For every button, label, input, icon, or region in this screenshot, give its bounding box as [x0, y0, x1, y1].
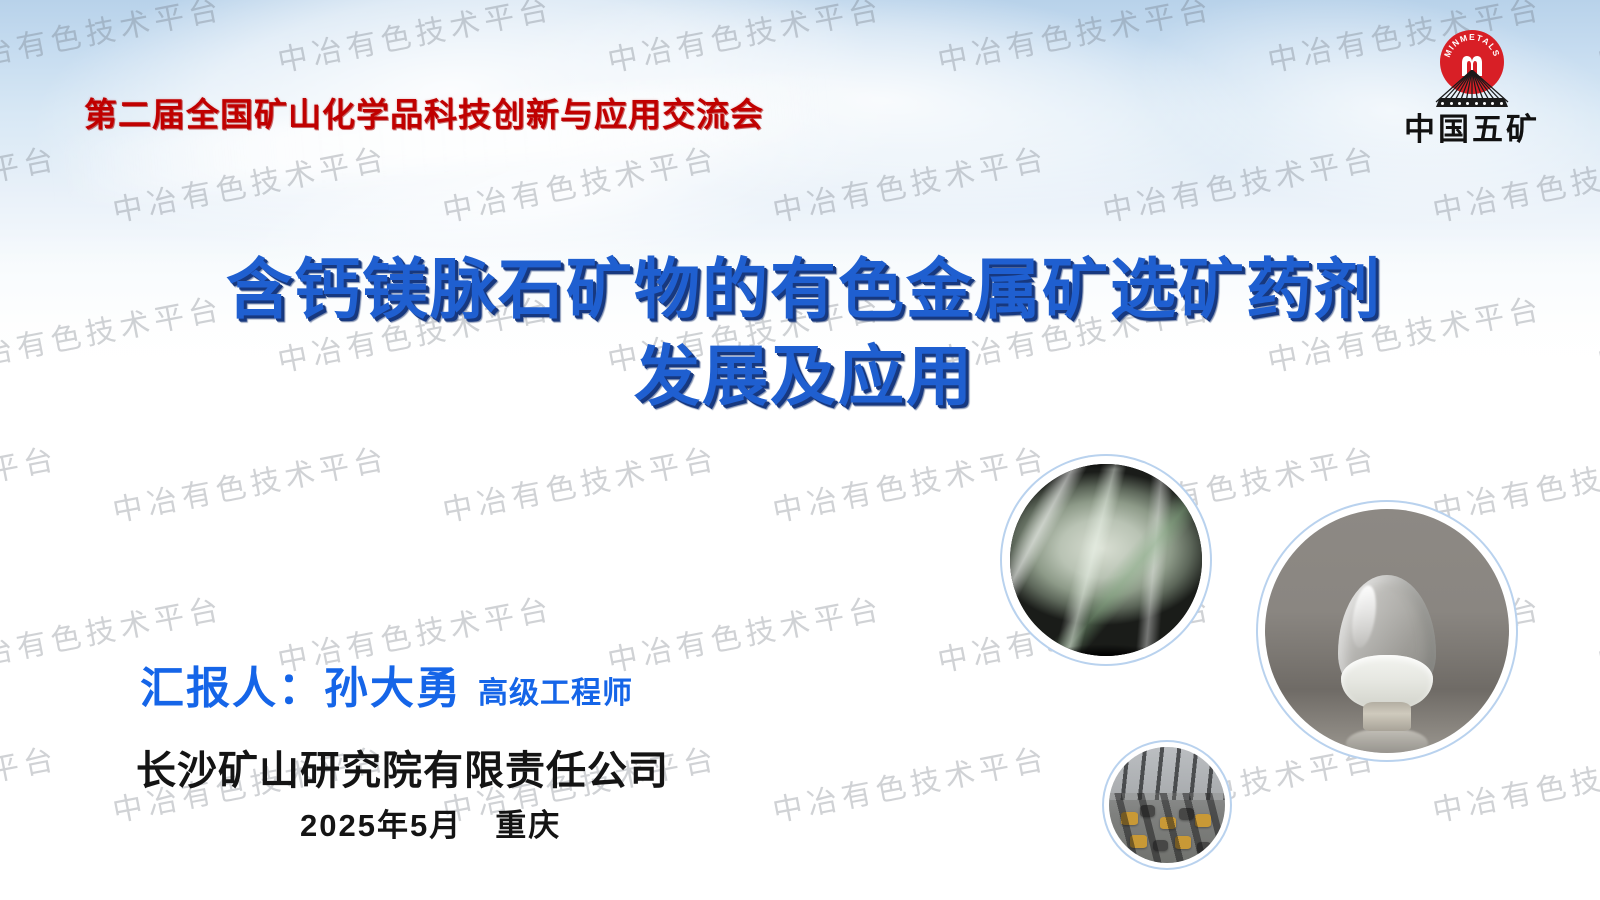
chemical-powder-image: [1265, 509, 1509, 753]
mineral-specimen-photo: [1002, 456, 1210, 664]
watermark-text: 中冶有色技术平台: [438, 434, 721, 531]
presenter-name: 汇报人：孙大勇: [140, 652, 462, 716]
watermark-text: 中冶有色技术平台: [768, 734, 1051, 831]
date-and-location: 2025年5月 重庆: [300, 800, 561, 845]
slide-title: 含钙镁脉石矿物的有色金属矿选矿药剂 发展及应用: [0, 246, 1600, 420]
presentation-slide: 中冶有色技术平台中冶有色技术平台中冶有色技术平台中冶有色技术平台中冶有色技术平台…: [0, 0, 1600, 900]
organization-name: 长沙矿山研究院有限责任公司: [136, 738, 669, 796]
slide-title-line-2: 发展及应用: [0, 333, 1600, 420]
conference-banner: 第二届全国矿山化学品科技创新与应用交流会: [84, 88, 764, 136]
flotation-plant-image: [1109, 747, 1225, 863]
presenter-row: 汇报人：孙大勇 高级工程师: [140, 652, 633, 716]
slide-title-line-1: 含钙镁脉石矿物的有色金属矿选矿药剂: [0, 246, 1600, 333]
flotation-plant-photo: [1104, 742, 1230, 868]
watermark-text: 中冶有色技术平台: [0, 434, 62, 531]
presenter-title: 高级工程师: [478, 668, 633, 712]
mineral-specimen-image: [1010, 464, 1202, 656]
minmetals-logo-wordmark: 中国五矿: [1382, 114, 1562, 145]
watermark-text: 中冶有色技术平台: [1593, 584, 1600, 681]
chemical-powder-photo: [1258, 502, 1516, 760]
minmetals-logo-mark: MINMETALS: [1424, 30, 1520, 108]
watermark-text: 中冶有色技术平台: [108, 434, 391, 531]
minmetals-logo: MINMETALS: [1382, 30, 1562, 145]
watermark-text: 中冶有色技术平台: [603, 584, 886, 681]
logo-base-bar-dots-icon: [1436, 100, 1508, 106]
bottom-margin: [0, 884, 1600, 900]
watermark-text: 中冶有色技术平台: [0, 734, 62, 831]
